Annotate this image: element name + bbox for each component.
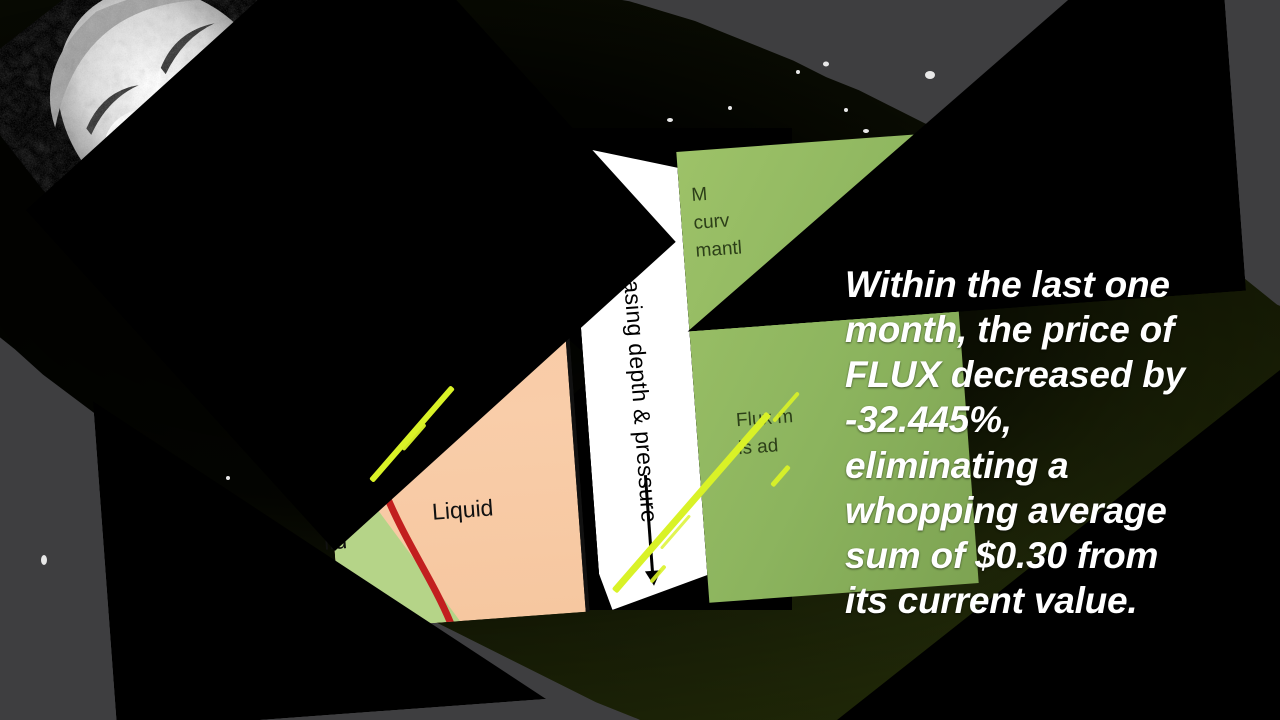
caption-line-2: month, the price of [845,307,1245,352]
slide-content: ure for a ression rock e Liquid lid M cu… [275,115,809,632]
right-panel-line-2: curv [693,210,730,235]
caption-line-7: sum of $0.30 from [845,533,1245,578]
right-panel-line-3: mantl [695,237,743,262]
geology-phase-diagram: ure for a ression rock e Liquid lid M cu… [292,128,792,610]
caption-line-1: Within the last one [845,262,1245,307]
video-frame: ure for a ression rock e Liquid lid M cu… [0,0,1280,720]
caption-line-3: FLUX decreased by [845,352,1245,397]
label-liquid: Liquid [431,494,494,525]
caption-line-6: whopping average [845,488,1245,533]
caption-line-5: eliminating a [845,443,1245,488]
right-panel-line-1: M [691,184,708,207]
caption-line-8: its current value. [845,578,1245,623]
caption-line-4: -32.445%, [845,397,1245,442]
caption-text-block: Within the last one month, the price of … [845,262,1245,623]
